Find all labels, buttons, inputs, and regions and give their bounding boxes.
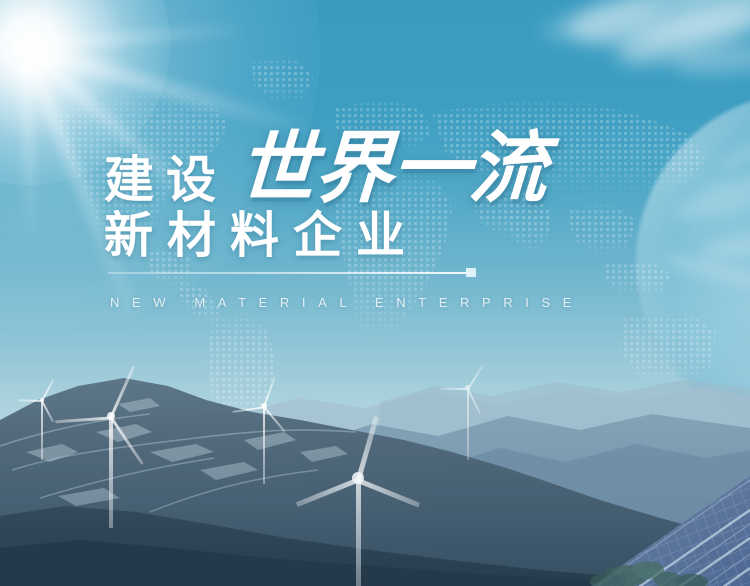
- headline-subtitle: NEW MATERIAL ENTERPRISE: [110, 296, 584, 309]
- headline-prefix: 建设: [104, 155, 228, 205]
- wind-turbine: [236, 392, 292, 484]
- headline-line-1: 建设 世界一流: [104, 133, 546, 205]
- hero-banner: 建设 世界一流 新材料企业 NEW MATERIAL ENTERPRISE: [0, 0, 750, 586]
- headline-emphasis: 世界一流: [236, 133, 548, 205]
- solar-panel-array-icon: [470, 430, 750, 586]
- wind-turbine: [300, 452, 416, 586]
- solar-array-region: [470, 430, 750, 586]
- headline-line-2: 新材料企业: [104, 212, 419, 261]
- wind-turbine: [66, 400, 156, 530]
